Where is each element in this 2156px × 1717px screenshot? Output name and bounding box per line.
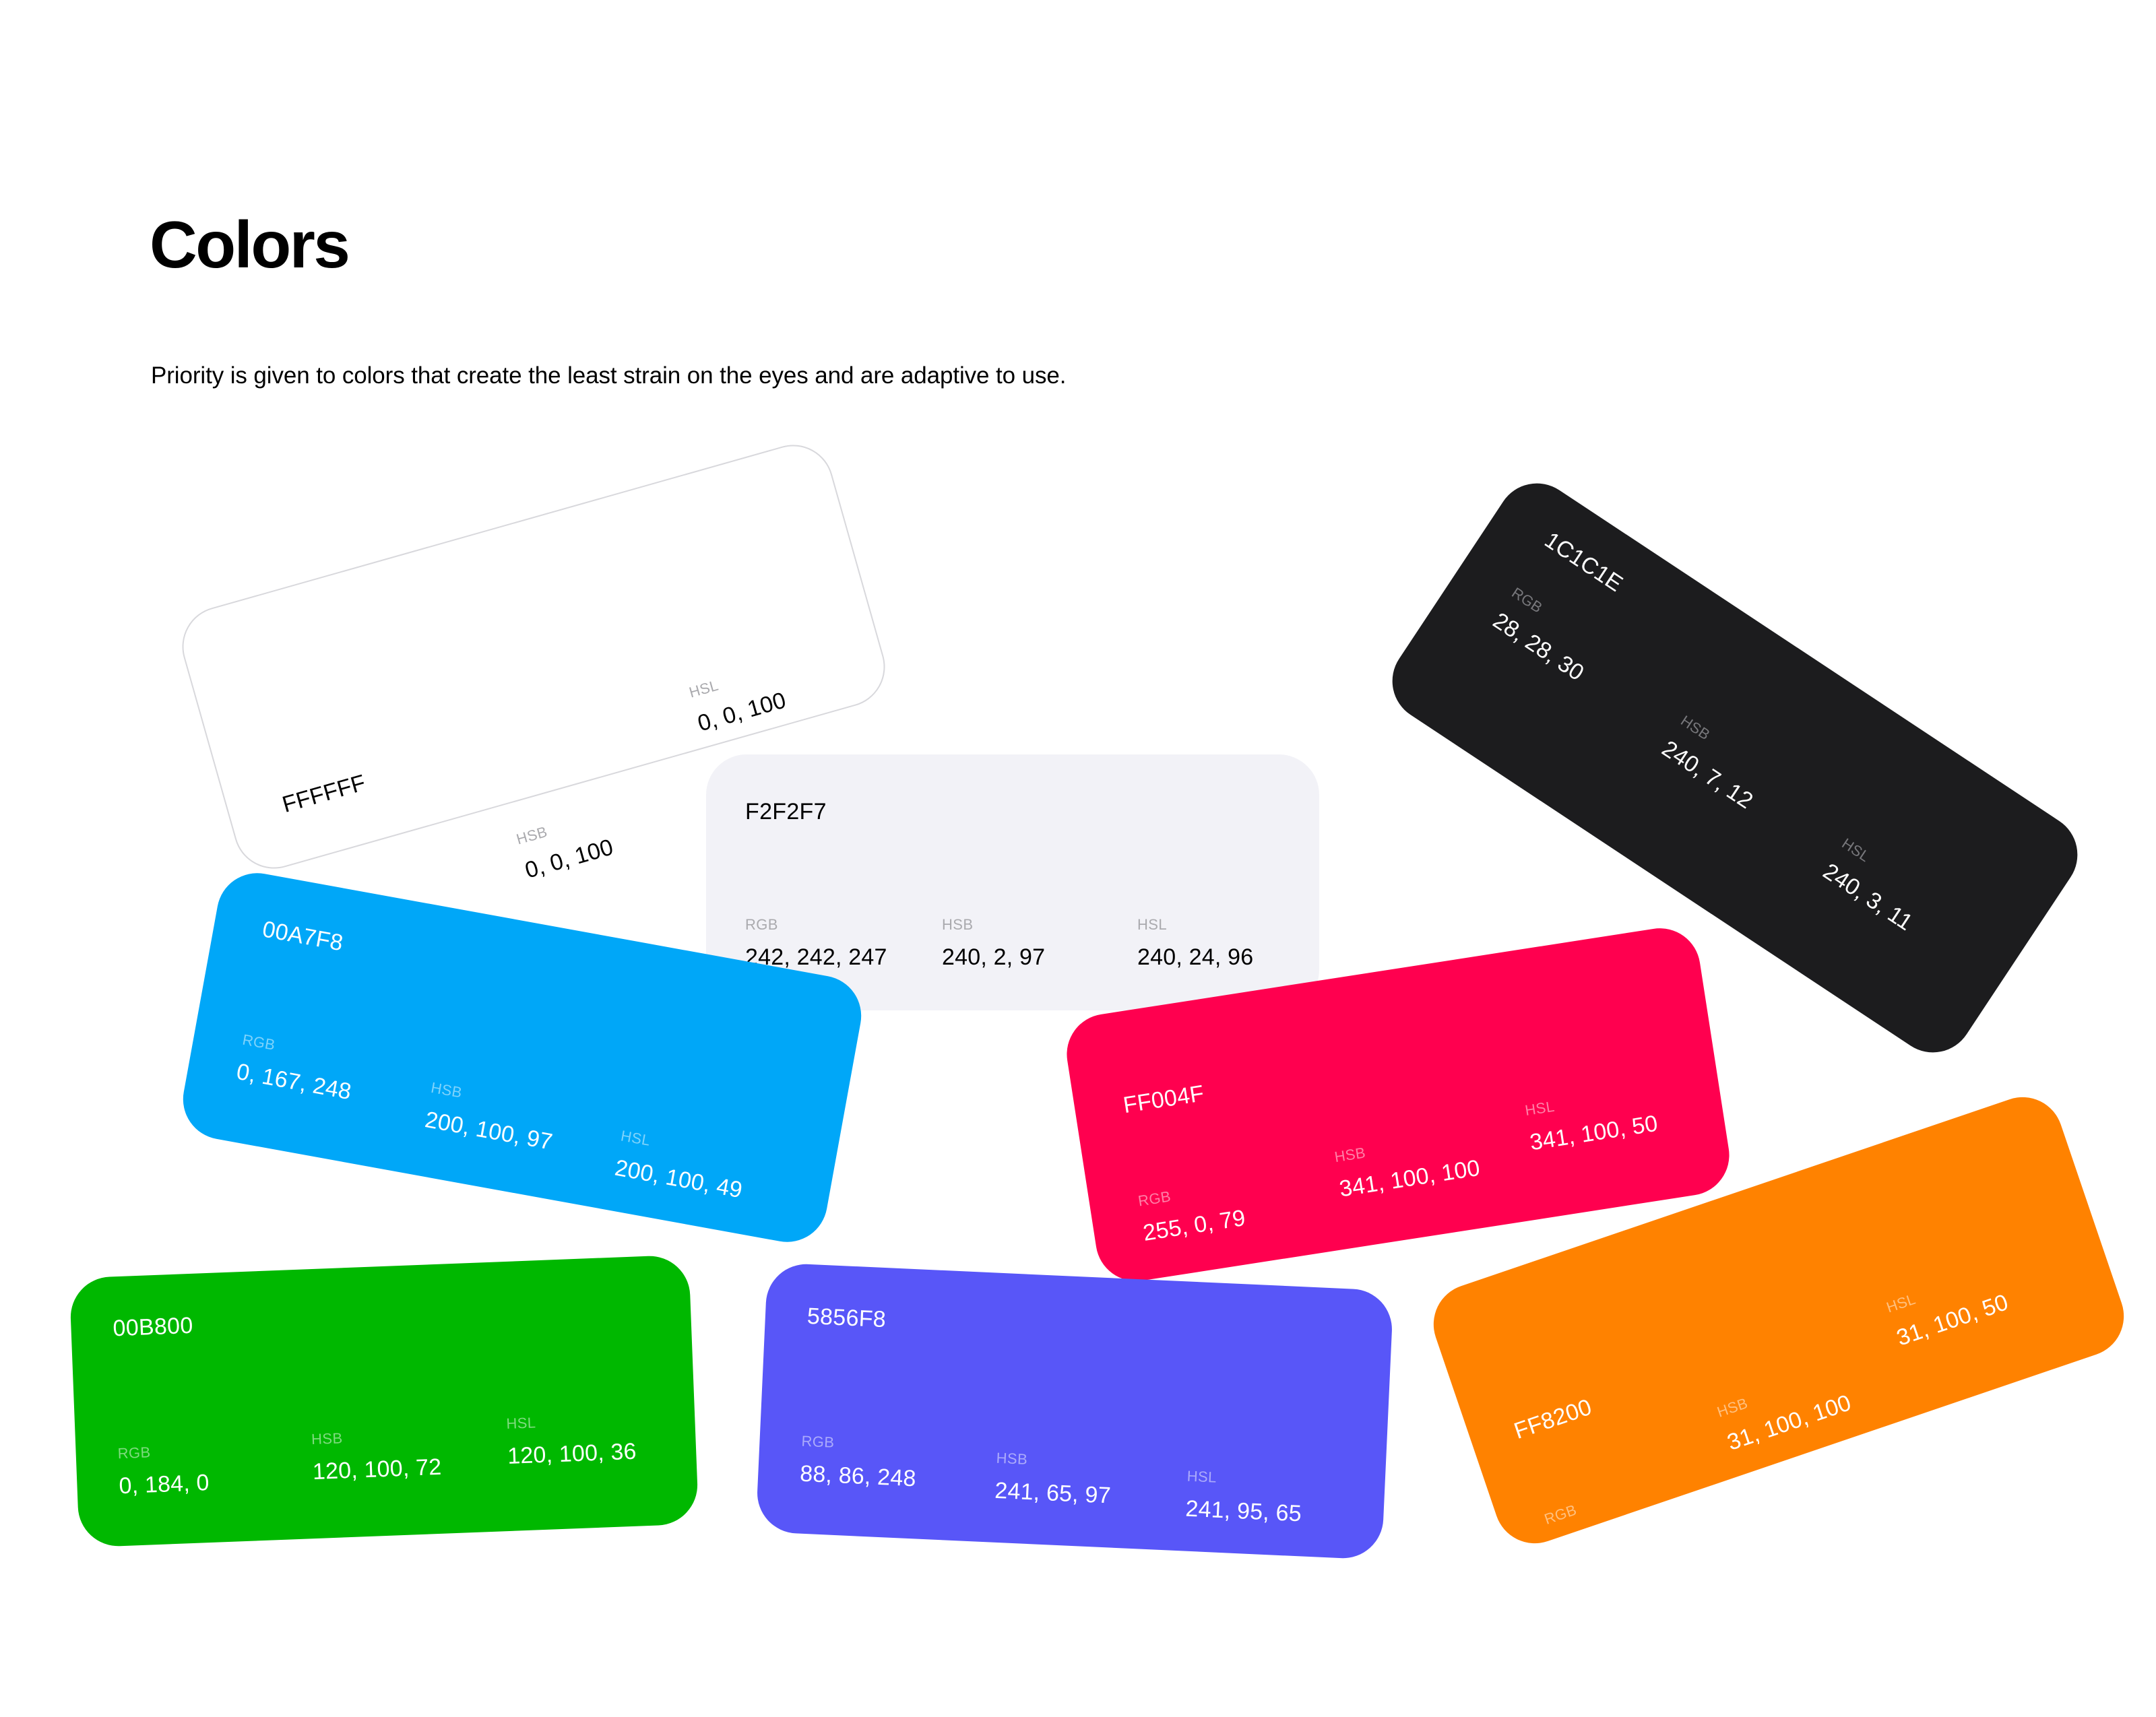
channel-label-hsb: HSB bbox=[311, 1426, 441, 1448]
channel-value-rgb: 88, 86, 248 bbox=[799, 1461, 916, 1493]
channel-label-hsl: HSL bbox=[1186, 1468, 1303, 1491]
swatch-channel-hsb: HSB 241, 65, 97 bbox=[994, 1450, 1113, 1510]
swatch-hex-label: F2F2F7 bbox=[745, 799, 827, 825]
color-swatch-card-00b800[interactable]: 00B800 RGB 0, 184, 0 HSB 120, 100, 72 HS… bbox=[69, 1254, 699, 1547]
swatch-hex-label: FFFFFF bbox=[280, 770, 369, 818]
swatch-channel-hsl: HSL 0, 0, 100 bbox=[687, 660, 789, 737]
channel-label-hsl: HSL bbox=[1137, 916, 1253, 934]
swatch-channel-hsb: HSB 200, 100, 97 bbox=[423, 1079, 560, 1156]
swatch-hex-label: FF8200 bbox=[1511, 1394, 1595, 1445]
swatch-channel-rgb: RGB 242, 242, 247 bbox=[745, 916, 887, 971]
channel-label-rgb: RGB bbox=[745, 916, 887, 934]
swatch-channel-hsl: HSL 241, 95, 65 bbox=[1185, 1468, 1304, 1528]
channel-value-hsb: 240, 7, 12 bbox=[1657, 736, 1757, 814]
channel-value-hsl: 241, 95, 65 bbox=[1185, 1496, 1302, 1528]
swatch-channel-hsb: HSB 341, 100, 100 bbox=[1333, 1127, 1482, 1202]
swatch-channel-hsl: HSL 31, 100, 50 bbox=[1884, 1262, 2012, 1351]
swatch-channel-hsb: HSB 31, 100, 100 bbox=[1715, 1363, 1854, 1456]
swatch-channel-rgb: RGB 0, 167, 248 bbox=[234, 1031, 358, 1106]
channel-value-hsl: 120, 100, 36 bbox=[507, 1439, 637, 1470]
channel-value-rgb: 28, 28, 30 bbox=[1488, 608, 1588, 686]
channel-value-rgb: 0, 184, 0 bbox=[119, 1470, 210, 1499]
swatch-hex-label: 00A7F8 bbox=[260, 916, 345, 957]
swatch-channel-hsl: HSL 240, 3, 11 bbox=[1818, 835, 1932, 936]
color-swatch-card-5856f8[interactable]: 5856F8 RGB 88, 86, 248 HSB 241, 65, 97 H… bbox=[755, 1262, 1393, 1560]
channel-value-hsb: 241, 65, 97 bbox=[994, 1478, 1112, 1510]
channel-value-hsb: 120, 100, 72 bbox=[312, 1454, 442, 1485]
channel-value-hsb: 240, 2, 97 bbox=[942, 944, 1045, 971]
swatch-channel-rgb: RGB 255, 0, 79 bbox=[1137, 1177, 1247, 1246]
channel-value-hsl: 341, 100, 50 bbox=[1528, 1111, 1659, 1157]
channel-label-rgb: RGB bbox=[801, 1433, 918, 1456]
swatch-channel-hsl: HSL 240, 24, 96 bbox=[1137, 916, 1253, 971]
channel-label-hsb: HSB bbox=[996, 1450, 1112, 1472]
page-subtitle: Priority is given to colors that create … bbox=[151, 360, 1066, 391]
channel-label-hsl: HSL bbox=[506, 1411, 635, 1433]
swatch-channel-hsl: HSL 120, 100, 36 bbox=[506, 1411, 637, 1470]
swatch-hex-label: 1C1C1E bbox=[1540, 527, 1627, 597]
channel-value-rgb: 255, 0, 79 bbox=[1141, 1205, 1247, 1247]
channel-value-hsl: 240, 24, 96 bbox=[1137, 944, 1253, 971]
swatch-channel-hsl: HSL 341, 100, 50 bbox=[1524, 1082, 1660, 1156]
swatch-channel-hsb: HSB 120, 100, 72 bbox=[311, 1426, 442, 1485]
channel-label-rgb: RGB bbox=[1137, 1177, 1241, 1210]
swatch-channel-rgb: RGB 88, 86, 248 bbox=[799, 1433, 918, 1493]
swatch-channel-hsb: HSB 0, 0, 100 bbox=[515, 807, 616, 884]
channel-label-rgb: RGB bbox=[117, 1441, 208, 1462]
swatch-channel-rgb: RGB 28, 28, 30 bbox=[1488, 584, 1604, 686]
swatch-channel-hsl: HSL 200, 100, 49 bbox=[612, 1127, 749, 1204]
swatch-channel-hsb: HSB 240, 2, 97 bbox=[942, 916, 1045, 971]
page-title: Colors bbox=[150, 212, 348, 278]
swatch-channel-rgb: RGB 255, 130, 0 bbox=[1542, 1475, 1670, 1563]
channel-label-hsb: HSB bbox=[942, 916, 1045, 934]
swatch-hex-label: 5856F8 bbox=[806, 1303, 887, 1333]
channel-value-rgb: 0, 167, 248 bbox=[234, 1059, 354, 1105]
swatch-channel-rgb: RGB 0, 184, 0 bbox=[117, 1441, 210, 1499]
swatch-hex-label: 00B800 bbox=[113, 1313, 193, 1342]
swatch-channel-hsb: HSB 240, 7, 12 bbox=[1657, 712, 1773, 814]
swatch-hex-label: FF004F bbox=[1122, 1080, 1206, 1119]
